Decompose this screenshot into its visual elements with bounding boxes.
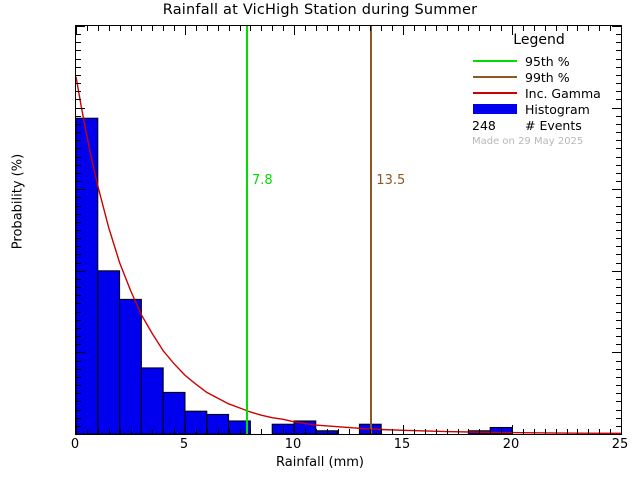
x-tick bbox=[425, 429, 426, 434]
x-tick bbox=[370, 26, 371, 31]
x-tick-label: 0 bbox=[71, 437, 79, 452]
y-tick bbox=[76, 165, 81, 166]
x-tick bbox=[283, 429, 284, 434]
x-tick bbox=[577, 429, 578, 434]
x-tick bbox=[250, 26, 251, 31]
y-tick bbox=[76, 361, 81, 362]
y-tick bbox=[76, 279, 81, 280]
x-tick bbox=[272, 429, 273, 434]
y-tick bbox=[76, 344, 81, 345]
y-tick bbox=[76, 124, 81, 125]
x-tick bbox=[229, 429, 230, 434]
x-tick bbox=[120, 26, 121, 31]
x-tick bbox=[523, 26, 524, 31]
x-tick-label: 5 bbox=[180, 437, 188, 452]
y-tick bbox=[616, 393, 621, 394]
y-tick bbox=[76, 189, 85, 190]
x-tick bbox=[599, 26, 600, 31]
y-tick bbox=[76, 410, 81, 411]
x-tick bbox=[479, 429, 480, 434]
x-axis-title: Rainfall (mm) bbox=[0, 455, 640, 470]
x-tick bbox=[479, 26, 480, 31]
x-tick bbox=[152, 26, 153, 31]
y-tick bbox=[76, 230, 81, 231]
x-tick bbox=[185, 26, 186, 35]
x-tick bbox=[468, 26, 469, 31]
y-tick bbox=[612, 352, 621, 353]
x-tick bbox=[163, 26, 164, 31]
legend-marker bbox=[473, 92, 517, 94]
x-tick bbox=[414, 26, 415, 31]
x-tick bbox=[588, 26, 589, 31]
y-tick bbox=[616, 287, 621, 288]
x-tick bbox=[534, 429, 535, 434]
x-tick bbox=[501, 429, 502, 434]
y-tick bbox=[76, 50, 81, 51]
percentile-label-99th: 13.5 bbox=[376, 173, 405, 188]
y-tick bbox=[616, 263, 621, 264]
x-tick bbox=[436, 26, 437, 31]
x-tick bbox=[349, 26, 350, 31]
y-tick bbox=[76, 108, 85, 109]
legend-key-line-icon bbox=[472, 54, 518, 68]
percentile-label-95th: 7.8 bbox=[252, 173, 273, 188]
y-tick bbox=[76, 369, 81, 370]
legend-key-swatch-icon bbox=[472, 102, 518, 116]
y-tick bbox=[616, 320, 621, 321]
x-tick bbox=[425, 26, 426, 31]
y-tick bbox=[616, 254, 621, 255]
x-tick bbox=[294, 425, 295, 434]
y-tick bbox=[76, 385, 81, 386]
y-tick bbox=[76, 181, 81, 182]
y-tick bbox=[76, 59, 81, 60]
y-tick bbox=[76, 83, 81, 84]
y-tick bbox=[616, 369, 621, 370]
y-tick bbox=[76, 426, 81, 427]
percentile-line-95th bbox=[246, 26, 248, 434]
y-tick bbox=[616, 303, 621, 304]
x-tick bbox=[98, 429, 99, 434]
x-tick bbox=[196, 26, 197, 31]
y-tick bbox=[76, 303, 81, 304]
y-tick bbox=[616, 246, 621, 247]
x-tick bbox=[261, 26, 262, 31]
event-count-label: # Events bbox=[525, 118, 582, 133]
x-tick bbox=[392, 26, 393, 31]
y-tick bbox=[76, 287, 81, 288]
y-tick bbox=[76, 173, 81, 174]
histogram-bars bbox=[76, 118, 512, 434]
y-tick bbox=[76, 206, 81, 207]
x-tick bbox=[567, 429, 568, 434]
y-tick bbox=[616, 312, 621, 313]
y-tick bbox=[616, 222, 621, 223]
y-tick bbox=[616, 148, 621, 149]
y-tick bbox=[616, 328, 621, 329]
x-tick-label: 15 bbox=[394, 437, 411, 452]
y-tick bbox=[616, 197, 621, 198]
y-tick bbox=[76, 246, 81, 247]
y-tick bbox=[616, 410, 621, 411]
y-tick bbox=[616, 377, 621, 378]
legend-marker bbox=[473, 60, 517, 62]
y-tick bbox=[76, 67, 81, 68]
x-tick-label: 10 bbox=[285, 437, 302, 452]
y-tick bbox=[76, 214, 81, 215]
x-tick bbox=[207, 429, 208, 434]
y-tick bbox=[616, 181, 621, 182]
x-tick bbox=[458, 26, 459, 31]
y-tick bbox=[612, 189, 621, 190]
y-tick bbox=[76, 132, 81, 133]
y-tick bbox=[76, 157, 81, 158]
x-tick bbox=[599, 429, 600, 434]
x-tick bbox=[272, 26, 273, 31]
y-tick bbox=[76, 328, 81, 329]
made-on-stamp: Made on 29 May 2025 bbox=[472, 136, 622, 147]
x-tick bbox=[447, 429, 448, 434]
histogram-bar bbox=[120, 299, 142, 434]
x-tick bbox=[501, 26, 502, 31]
y-tick bbox=[616, 238, 621, 239]
x-tick bbox=[218, 26, 219, 31]
x-tick bbox=[436, 429, 437, 434]
x-tick bbox=[447, 26, 448, 31]
y-tick bbox=[76, 254, 81, 255]
y-tick bbox=[76, 393, 81, 394]
y-tick bbox=[616, 214, 621, 215]
legend-row: Inc. Gamma bbox=[472, 85, 622, 101]
x-tick bbox=[87, 429, 88, 434]
x-tick bbox=[196, 429, 197, 434]
x-tick bbox=[229, 26, 230, 31]
x-tick bbox=[523, 429, 524, 434]
x-tick bbox=[316, 429, 317, 434]
x-tick bbox=[610, 429, 611, 434]
y-tick bbox=[76, 418, 81, 419]
y-tick bbox=[616, 206, 621, 207]
y-tick bbox=[616, 230, 621, 231]
x-tick bbox=[131, 26, 132, 31]
x-tick bbox=[349, 429, 350, 434]
legend-row: Histogram bbox=[472, 101, 622, 117]
y-tick bbox=[76, 352, 85, 353]
y-tick bbox=[616, 295, 621, 296]
y-tick bbox=[76, 434, 85, 435]
y-tick bbox=[76, 75, 81, 76]
x-tick bbox=[403, 425, 404, 434]
legend-key-line-icon bbox=[472, 86, 518, 100]
legend-label: Inc. Gamma bbox=[525, 86, 601, 101]
x-tick bbox=[370, 429, 371, 434]
y-tick bbox=[76, 140, 81, 141]
x-tick bbox=[141, 26, 142, 31]
percentile-line-99th bbox=[370, 26, 372, 434]
x-tick bbox=[141, 429, 142, 434]
x-tick bbox=[152, 429, 153, 434]
x-tick bbox=[545, 429, 546, 434]
x-tick bbox=[207, 26, 208, 31]
x-tick bbox=[327, 26, 328, 31]
x-tick bbox=[588, 429, 589, 434]
x-tick bbox=[131, 429, 132, 434]
x-tick bbox=[545, 26, 546, 31]
event-count-value: 248 bbox=[472, 118, 518, 133]
y-tick bbox=[76, 34, 81, 35]
y-tick bbox=[616, 401, 621, 402]
histogram-bar bbox=[141, 368, 163, 434]
x-tick bbox=[392, 429, 393, 434]
x-tick bbox=[490, 26, 491, 31]
y-tick bbox=[76, 377, 81, 378]
x-tick bbox=[556, 26, 557, 31]
x-tick bbox=[305, 26, 306, 31]
y-tick bbox=[616, 418, 621, 419]
y-tick bbox=[76, 116, 81, 117]
legend-key-line-icon bbox=[472, 70, 518, 84]
x-tick bbox=[98, 26, 99, 31]
y-tick bbox=[76, 222, 81, 223]
x-tick bbox=[512, 425, 513, 434]
x-tick bbox=[174, 26, 175, 31]
x-tick bbox=[621, 425, 622, 434]
x-tick bbox=[240, 429, 241, 434]
x-tick bbox=[338, 429, 339, 434]
x-tick-label: 20 bbox=[503, 437, 520, 452]
y-tick bbox=[616, 336, 621, 337]
x-tick bbox=[556, 429, 557, 434]
x-tick bbox=[305, 429, 306, 434]
legend-marker bbox=[473, 76, 517, 78]
x-tick bbox=[403, 26, 404, 35]
x-tick bbox=[250, 429, 251, 434]
x-tick bbox=[567, 26, 568, 31]
x-tick bbox=[109, 26, 110, 31]
x-tick bbox=[468, 429, 469, 434]
x-tick bbox=[381, 429, 382, 434]
legend-label: 95th % bbox=[525, 54, 570, 69]
x-tick-label: 25 bbox=[612, 437, 629, 452]
x-tick bbox=[109, 429, 110, 434]
y-tick bbox=[76, 148, 81, 149]
y-axis-title: Probability (%) bbox=[11, 122, 26, 282]
y-tick bbox=[612, 26, 621, 27]
x-tick bbox=[577, 26, 578, 31]
x-tick bbox=[283, 26, 284, 31]
y-tick bbox=[612, 434, 621, 435]
y-tick bbox=[76, 42, 81, 43]
y-tick bbox=[76, 312, 81, 313]
x-tick bbox=[261, 429, 262, 434]
x-tick bbox=[316, 26, 317, 31]
legend-entries: 95th %99th %Inc. GammaHistogram bbox=[472, 53, 622, 117]
legend-title: Legend bbox=[472, 32, 622, 48]
y-tick bbox=[616, 426, 621, 427]
x-tick bbox=[338, 26, 339, 31]
chart-canvas: Rainfall at VicHigh Station during Summe… bbox=[0, 0, 640, 480]
x-tick bbox=[163, 429, 164, 434]
x-tick bbox=[534, 26, 535, 31]
y-tick bbox=[76, 336, 81, 337]
x-tick bbox=[381, 26, 382, 31]
y-tick bbox=[76, 263, 81, 264]
x-tick bbox=[359, 429, 360, 434]
y-tick bbox=[616, 361, 621, 362]
legend-label: 99th % bbox=[525, 70, 570, 85]
legend-row-events: 248 # Events bbox=[472, 117, 622, 133]
x-tick bbox=[174, 429, 175, 434]
x-tick bbox=[294, 26, 295, 35]
legend-marker bbox=[473, 104, 517, 114]
x-tick bbox=[327, 429, 328, 434]
histogram-bar bbox=[98, 271, 120, 434]
y-tick bbox=[76, 26, 85, 27]
y-tick bbox=[616, 157, 621, 158]
y-tick bbox=[76, 99, 81, 100]
y-tick bbox=[76, 295, 81, 296]
y-tick bbox=[616, 173, 621, 174]
x-tick bbox=[185, 425, 186, 434]
y-tick bbox=[76, 197, 81, 198]
legend: Legend 95th %99th %Inc. GammaHistogram 2… bbox=[472, 32, 622, 147]
y-tick bbox=[616, 344, 621, 345]
y-tick bbox=[616, 279, 621, 280]
x-tick bbox=[120, 429, 121, 434]
y-tick bbox=[76, 271, 85, 272]
x-tick bbox=[490, 429, 491, 434]
x-tick bbox=[218, 429, 219, 434]
y-tick bbox=[616, 385, 621, 386]
x-tick bbox=[359, 26, 360, 31]
legend-label: Histogram bbox=[525, 102, 590, 117]
x-tick bbox=[414, 429, 415, 434]
legend-row: 95th % bbox=[472, 53, 622, 69]
y-tick bbox=[76, 91, 81, 92]
y-tick bbox=[612, 271, 621, 272]
y-tick bbox=[76, 320, 81, 321]
x-tick bbox=[610, 26, 611, 31]
y-tick bbox=[76, 401, 81, 402]
histogram-bar bbox=[163, 392, 185, 434]
y-tick bbox=[616, 165, 621, 166]
x-tick bbox=[240, 26, 241, 31]
x-tick bbox=[458, 429, 459, 434]
y-tick bbox=[76, 238, 81, 239]
x-tick bbox=[87, 26, 88, 31]
chart-title: Rainfall at VicHigh Station during Summe… bbox=[0, 2, 640, 18]
legend-row: 99th % bbox=[472, 69, 622, 85]
